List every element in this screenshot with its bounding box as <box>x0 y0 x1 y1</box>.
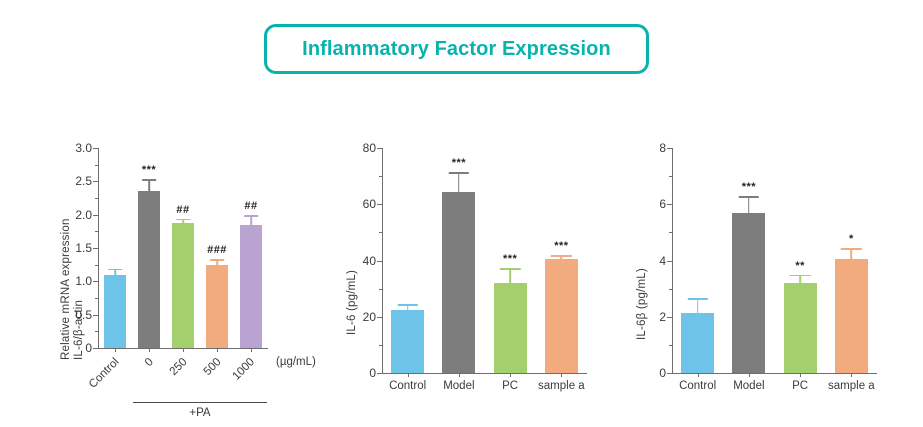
error-bar-cap <box>500 268 520 270</box>
x-axis-category-label: sample a <box>538 380 585 392</box>
x-axis-category-label: PC <box>792 380 808 392</box>
y-axis-tick-label: 6 <box>659 197 672 211</box>
figure-title-box: Inflammatory Factor Expression <box>264 24 649 74</box>
x-axis-units-label: (µg/mL) <box>276 356 316 368</box>
bar <box>784 283 817 373</box>
y-axis-minor-tick <box>669 289 673 290</box>
y-axis-tick-label: 4 <box>659 254 672 268</box>
y-axis-tick-label: 1.0 <box>75 274 98 288</box>
y-axis-tick-label: 8 <box>659 141 672 155</box>
y-axis-line <box>98 148 99 348</box>
bar <box>104 275 126 348</box>
x-axis-category-text: 500 <box>201 356 223 378</box>
x-axis-tick <box>851 373 852 377</box>
y-axis-tick-label: 80 <box>363 141 382 155</box>
error-bar-cap <box>739 196 759 198</box>
significance-marker: ## <box>244 200 257 212</box>
x-axis-tick <box>149 348 150 352</box>
error-bar <box>148 179 150 191</box>
significance-marker: *** <box>503 253 517 265</box>
significance-marker: * <box>849 233 854 245</box>
y-axis-minor-tick <box>379 289 383 290</box>
y-axis-tick-label: 0 <box>85 341 98 355</box>
x-axis-category-label: PC <box>502 380 518 392</box>
y-axis-title-line-2: IL-6/β-actin <box>73 218 86 360</box>
x-axis-line <box>672 373 877 374</box>
y-axis-tick-label: 0 <box>659 366 672 380</box>
error-bar-cap <box>176 219 190 221</box>
x-axis-tick <box>561 373 562 377</box>
error-bar <box>851 248 853 259</box>
bar <box>732 213 765 373</box>
bar <box>172 223 194 348</box>
error-bar-cap <box>687 298 707 300</box>
y-axis-tick-label: 1.5 <box>75 241 98 255</box>
x-axis-tick <box>217 348 218 352</box>
significance-marker: *** <box>142 164 156 176</box>
y-axis-title: IL-6β (pg/mL) <box>636 268 648 340</box>
y-axis-tick-label: 3.0 <box>75 141 98 155</box>
bar <box>835 259 868 373</box>
bar <box>681 313 714 373</box>
x-axis-category-label: Control <box>679 380 716 392</box>
x-axis-category-label: Model <box>733 380 764 392</box>
x-axis-category-label: Control <box>389 380 426 392</box>
significance-marker: ### <box>207 244 227 256</box>
x-axis-tick <box>115 348 116 352</box>
plot-area: 02468Control***Model**PC*sample a <box>672 148 877 373</box>
chart-panel-il6-mrna: Relative mRNA expressionIL-6/β-actin 00.… <box>30 130 330 420</box>
y-axis-minor-tick <box>95 231 99 232</box>
x-axis-tick <box>800 373 801 377</box>
error-bar-cap <box>210 259 224 261</box>
x-axis-category-text: 1000 <box>231 356 258 383</box>
significance-marker: ## <box>176 204 189 216</box>
bar <box>545 259 578 373</box>
group-bracket-label: +PA <box>189 407 210 419</box>
y-axis-line <box>382 148 383 373</box>
y-axis-tick-label: 60 <box>363 197 382 211</box>
x-axis-category-text: Control <box>87 356 122 391</box>
y-axis-tick-label: 0 <box>369 366 382 380</box>
bar <box>391 310 424 373</box>
error-bar-cap <box>397 304 417 306</box>
x-axis-tick <box>408 373 409 377</box>
group-bracket-line <box>133 402 267 403</box>
y-axis-tick-label: 0.5 <box>75 308 98 322</box>
error-bar-cap <box>841 248 861 250</box>
x-axis-tick <box>459 373 460 377</box>
bar <box>206 265 228 348</box>
error-bar <box>748 196 750 212</box>
y-axis-minor-tick <box>95 165 99 166</box>
y-axis-tick-label: 2.5 <box>75 174 98 188</box>
x-axis-line <box>382 373 587 374</box>
y-axis-minor-tick <box>379 345 383 346</box>
y-axis-tick-label: 2.0 <box>75 208 98 222</box>
error-bar <box>697 298 699 312</box>
x-axis-tick <box>749 373 750 377</box>
significance-marker: *** <box>554 240 568 252</box>
x-axis-tick <box>251 348 252 352</box>
bar <box>494 283 527 373</box>
page-title: Inflammatory Factor Expression <box>302 38 611 61</box>
error-bar <box>509 268 511 283</box>
x-axis-category-label: Model <box>443 380 474 392</box>
y-axis-tick-label: 40 <box>363 254 382 268</box>
y-axis-title: IL-6 (pg/mL) <box>346 270 358 335</box>
significance-marker: ** <box>795 260 805 272</box>
y-axis-minor-tick <box>669 232 673 233</box>
y-axis-tick-label: 20 <box>363 310 382 324</box>
error-bar-cap <box>551 255 571 257</box>
y-axis-minor-tick <box>669 345 673 346</box>
x-axis-category-text: 250 <box>167 356 189 378</box>
plot-area: 00.51.01.52.02.53.0Control***0##250###50… <box>98 148 268 348</box>
y-axis-minor-tick <box>95 265 99 266</box>
x-axis-category-text: 0 <box>142 356 155 369</box>
y-axis-minor-tick <box>95 298 99 299</box>
chart-panel-il6b-protein: IL-6β (pg/mL) 02468Control***Model**PC*s… <box>620 130 916 420</box>
y-axis-line <box>672 148 673 373</box>
x-axis-tick <box>183 348 184 352</box>
error-bar-cap <box>108 269 122 271</box>
y-axis-minor-tick <box>379 176 383 177</box>
bar <box>442 192 475 373</box>
y-axis-title: Relative mRNA expressionIL-6/β-actin <box>60 218 86 360</box>
significance-marker: *** <box>452 157 466 169</box>
x-axis-category-label: sample a <box>828 380 875 392</box>
error-bar-cap <box>142 179 156 181</box>
error-bar-cap <box>790 275 810 277</box>
error-bar-cap <box>449 172 469 174</box>
significance-marker: *** <box>742 181 756 193</box>
y-axis-title-line-1: Relative mRNA expression <box>60 218 73 360</box>
error-bar <box>458 172 460 192</box>
x-axis-tick <box>698 373 699 377</box>
y-axis-tick-label: 2 <box>659 310 672 324</box>
chart-panel-il6-protein: IL-6 (pg/mL) 020406080Control***Model***… <box>330 130 626 420</box>
x-axis-tick <box>510 373 511 377</box>
y-axis-minor-tick <box>379 232 383 233</box>
y-axis-minor-tick <box>95 331 99 332</box>
y-axis-minor-tick <box>669 176 673 177</box>
error-bar-cap <box>244 215 258 217</box>
bar <box>138 191 160 348</box>
y-axis-minor-tick <box>95 198 99 199</box>
bar <box>240 225 262 348</box>
plot-area: 020406080Control***Model***PC***sample a <box>382 148 587 373</box>
